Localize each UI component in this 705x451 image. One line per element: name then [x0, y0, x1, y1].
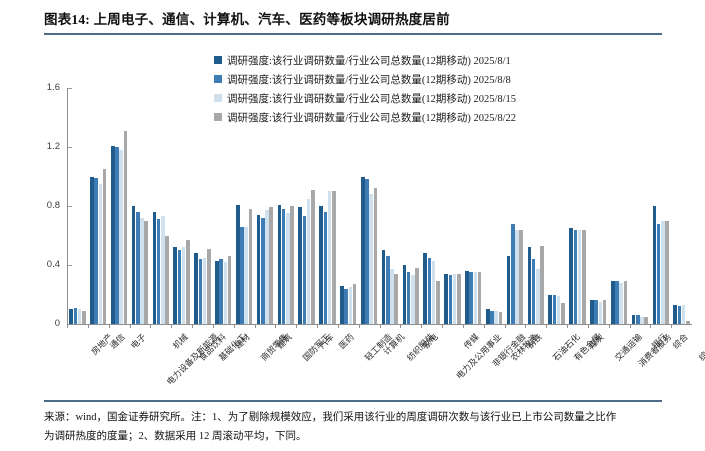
chart-page: 图表14: 上周电子、通信、计算机、汽车、医药等板块调研热度居前 调研强度:该行… [0, 0, 705, 451]
bar [261, 218, 265, 324]
bar [303, 216, 307, 324]
bar [457, 274, 461, 324]
bar [574, 230, 578, 324]
bar [298, 207, 302, 324]
bar [90, 177, 94, 325]
bar [207, 249, 211, 324]
x-axis-tick-mark [192, 325, 193, 328]
bar [157, 219, 161, 324]
bar [499, 312, 503, 324]
x-axis-tick-mark [609, 325, 610, 328]
x-axis-tick-mark [296, 325, 297, 328]
bar [415, 268, 419, 324]
bar [103, 169, 107, 324]
x-axis-tick-mark [317, 325, 318, 328]
bar [611, 281, 615, 324]
bar [682, 305, 686, 324]
bar [78, 309, 82, 324]
bar [332, 191, 336, 324]
bar [224, 262, 228, 324]
bar [161, 216, 165, 324]
bar [215, 261, 219, 324]
x-axis-tick-mark [442, 325, 443, 328]
x-axis-tick-mark [359, 325, 360, 328]
bar [124, 131, 128, 324]
bar [436, 281, 440, 324]
bar [69, 309, 73, 324]
bar [532, 259, 536, 324]
bar [678, 306, 682, 324]
bar [236, 205, 240, 324]
bar [665, 221, 669, 324]
bar [486, 309, 490, 324]
bar [423, 253, 427, 324]
x-axis-tick-mark [525, 325, 526, 328]
bar [515, 230, 519, 324]
footer-divider [44, 400, 662, 402]
bar [132, 206, 136, 324]
bar [557, 296, 561, 324]
bar [219, 259, 223, 324]
x-axis-tick-mark [109, 325, 110, 328]
bar [324, 212, 328, 324]
bar [140, 218, 144, 324]
bar [615, 281, 619, 324]
bar [548, 295, 552, 325]
bar [319, 206, 323, 324]
bar [353, 284, 357, 324]
source-note-line-1: 来源：wind，国金证券研究所。注：1、为了剔除规模效应，我们采用该行业的周度调… [44, 408, 668, 427]
bar [94, 178, 98, 324]
bar [361, 177, 365, 325]
bar [278, 205, 282, 324]
bar [478, 272, 482, 324]
bar [657, 224, 661, 324]
bar [144, 221, 148, 324]
x-axis-tick-mark [380, 325, 381, 328]
bar [119, 150, 123, 324]
bar [257, 215, 261, 324]
bar [282, 209, 286, 324]
bar [449, 275, 453, 324]
x-axis-tick-mark [650, 325, 651, 328]
bar [490, 311, 494, 324]
bar [465, 271, 469, 324]
bar [590, 300, 594, 324]
x-axis-tick-mark [421, 325, 422, 328]
bar [328, 191, 332, 324]
bar [290, 206, 294, 324]
bar [394, 274, 398, 324]
bar [428, 258, 432, 324]
bar [469, 272, 473, 324]
x-axis-tick-mark [671, 325, 672, 328]
x-axis-tick-mark [463, 325, 464, 328]
bar [74, 308, 78, 324]
bar [519, 230, 523, 324]
bar [507, 256, 511, 324]
x-axis-tick-mark [484, 325, 485, 328]
bar [365, 179, 369, 324]
bar [340, 286, 344, 324]
bar [228, 256, 232, 324]
bar [244, 227, 248, 324]
bar [115, 147, 119, 324]
bar [619, 283, 623, 324]
bar [569, 228, 573, 324]
bar [382, 250, 386, 324]
bar [386, 256, 390, 324]
bar [186, 240, 190, 324]
bar [686, 321, 690, 324]
x-axis-tick-mark [505, 325, 506, 328]
x-axis-tick-mark [255, 325, 256, 328]
bar [82, 311, 86, 324]
x-axis-tick-mark [234, 325, 235, 328]
bar [194, 253, 198, 324]
bar [474, 272, 478, 324]
bar [636, 315, 640, 324]
x-axis-tick-mark [171, 325, 172, 328]
bar [369, 194, 373, 324]
bar [553, 295, 557, 325]
bar [624, 281, 628, 324]
bar [99, 184, 103, 324]
bar [203, 258, 207, 324]
bar [494, 311, 498, 324]
bar [178, 250, 182, 324]
bar [407, 272, 411, 324]
x-axis-tick-mark [588, 325, 589, 328]
bar [528, 247, 532, 324]
bar [653, 206, 657, 324]
bar [182, 247, 186, 324]
bar [344, 289, 348, 324]
bar [536, 269, 540, 324]
bar [249, 209, 253, 324]
x-axis-tick-mark [338, 325, 339, 328]
bar [599, 302, 603, 324]
bar [403, 265, 407, 324]
bar [644, 317, 648, 324]
source-note: 来源：wind，国金证券研究所。注：1、为了剔除规模效应，我们采用该行业的周度调… [44, 408, 668, 446]
x-axis-tick-mark [130, 325, 131, 328]
bar [199, 259, 203, 324]
bar [265, 210, 269, 324]
bar [240, 227, 244, 324]
bar [286, 213, 290, 324]
bar [111, 146, 115, 324]
bar [673, 305, 677, 324]
x-axis-tick-mark [630, 325, 631, 328]
source-note-line-2: 为调研热度的度量；2、数据采用 12 周滚动平均，下同。 [44, 427, 668, 446]
bar [444, 274, 448, 324]
bar [540, 246, 544, 324]
bar [511, 224, 515, 324]
x-axis-tick-mark [213, 325, 214, 328]
bar [561, 303, 565, 324]
bar [578, 230, 582, 324]
x-axis-tick-mark [546, 325, 547, 328]
bar [594, 300, 598, 324]
x-axis-tick-mark [150, 325, 151, 328]
x-axis-tick-mark [275, 325, 276, 328]
x-axis-tick-mark [88, 325, 89, 328]
x-axis-tick-mark [67, 325, 68, 328]
bar [349, 287, 353, 324]
x-axis-tick-mark [567, 325, 568, 328]
bar [640, 317, 644, 324]
bar [390, 269, 394, 324]
bar [153, 212, 157, 324]
bar [165, 236, 169, 325]
bar [374, 188, 378, 324]
bar [432, 261, 436, 324]
bar [453, 274, 457, 324]
plot-area: 00.40.81.21.6 房地产通信电子电力设备及新能源机械食品饮料基础化工建… [0, 0, 705, 400]
bar [603, 300, 607, 324]
bar [311, 190, 315, 324]
bar [411, 275, 415, 324]
bar [307, 199, 311, 324]
bar [582, 230, 586, 324]
bar [661, 221, 665, 324]
bar [173, 247, 177, 324]
bar [269, 207, 273, 324]
x-axis-tick-mark [400, 325, 401, 328]
bar [136, 212, 140, 324]
bar [632, 315, 636, 324]
